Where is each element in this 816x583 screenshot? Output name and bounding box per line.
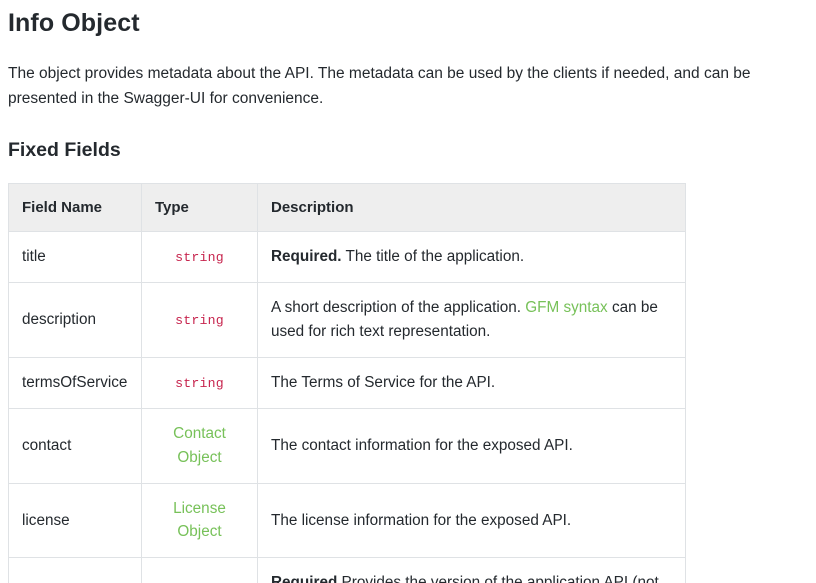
required-label: Required. bbox=[271, 248, 342, 265]
table-row: versionstringRequired Provides the versi… bbox=[9, 558, 686, 583]
cell-field-name: title bbox=[9, 231, 142, 282]
description-text: The title of the application. bbox=[342, 248, 525, 265]
column-header-description: Description bbox=[258, 183, 686, 231]
description-text: A short description of the application. bbox=[271, 299, 525, 316]
type-object-link[interactable]: Contact Object bbox=[155, 422, 244, 469]
cell-field-name: contact bbox=[9, 409, 142, 483]
column-header-field-name: Field Name bbox=[9, 183, 142, 231]
table-row: contactContact ObjectThe contact informa… bbox=[9, 409, 686, 483]
table-row: descriptionstringA short description of … bbox=[9, 283, 686, 358]
description-text: The Terms of Service for the API. bbox=[271, 374, 495, 391]
cell-type: string bbox=[142, 358, 258, 409]
table-row: licenseLicense ObjectThe license informa… bbox=[9, 483, 686, 557]
cell-type: string bbox=[142, 558, 258, 583]
type-code: string bbox=[175, 376, 224, 391]
cell-description: A short description of the application. … bbox=[258, 283, 686, 358]
table-header-row: Field Name Type Description bbox=[9, 183, 686, 231]
description-text: The license information for the exposed … bbox=[271, 512, 571, 529]
table-row: titlestringRequired. The title of the ap… bbox=[9, 231, 686, 282]
cell-field-name: termsOfService bbox=[9, 358, 142, 409]
cell-type: License Object bbox=[142, 483, 258, 557]
type-code: string bbox=[175, 250, 224, 265]
cell-field-name: description bbox=[9, 283, 142, 358]
cell-type: Contact Object bbox=[142, 409, 258, 483]
table-body: titlestringRequired. The title of the ap… bbox=[9, 231, 686, 583]
cell-field-name: license bbox=[9, 483, 142, 557]
gfm-syntax-link[interactable]: GFM syntax bbox=[525, 299, 607, 316]
cell-description: Required Provides the version of the app… bbox=[258, 558, 686, 583]
cell-description: The contact information for the exposed … bbox=[258, 409, 686, 483]
cell-type: string bbox=[142, 231, 258, 282]
intro-paragraph: The object provides metadata about the A… bbox=[8, 61, 808, 111]
document-page: Info Object The object provides metadata… bbox=[0, 8, 816, 583]
table-row: termsOfServicestringThe Terms of Service… bbox=[9, 358, 686, 409]
cell-field-name: version bbox=[9, 558, 142, 583]
column-header-type: Type bbox=[142, 183, 258, 231]
cell-description: The license information for the exposed … bbox=[258, 483, 686, 557]
table-header: Field Name Type Description bbox=[9, 183, 686, 231]
fixed-fields-table: Field Name Type Description titlestringR… bbox=[8, 183, 686, 583]
cell-description: The Terms of Service for the API. bbox=[258, 358, 686, 409]
page-title: Info Object bbox=[8, 8, 808, 39]
cell-description: Required. The title of the application. bbox=[258, 231, 686, 282]
required-label: Required bbox=[271, 574, 337, 583]
description-text: The contact information for the exposed … bbox=[271, 437, 573, 454]
type-code: string bbox=[175, 313, 224, 328]
section-heading-fixed-fields: Fixed Fields bbox=[8, 138, 808, 162]
type-object-link[interactable]: License Object bbox=[155, 497, 244, 544]
cell-type: string bbox=[142, 283, 258, 358]
